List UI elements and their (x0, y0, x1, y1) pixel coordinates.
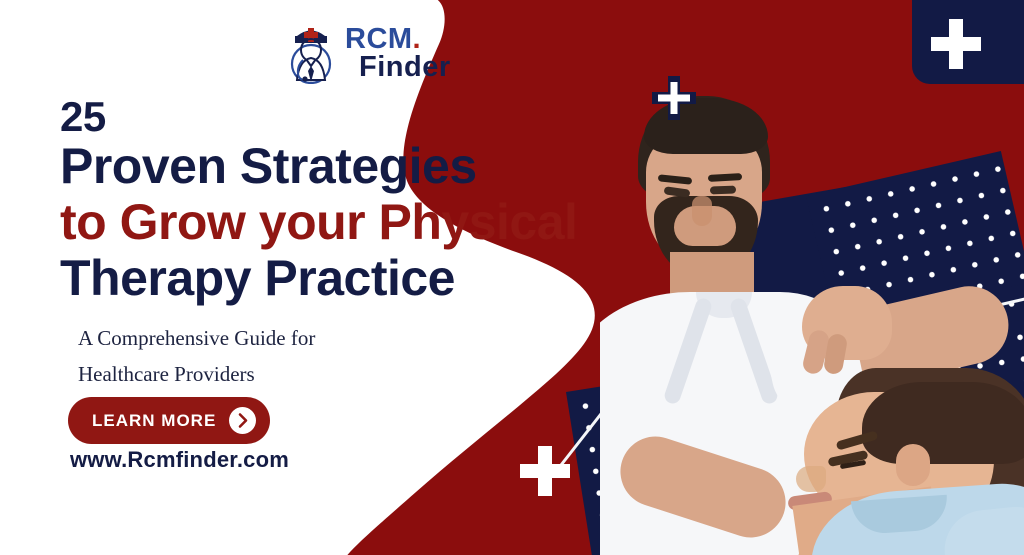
therapist-eye-right (710, 186, 736, 195)
patient-hair-top (862, 382, 1024, 464)
learn-more-button[interactable]: LEARN MORE (68, 397, 270, 444)
chevron-right-circle-icon (229, 407, 256, 434)
patient-nose (796, 466, 826, 492)
logo-text-primary: RCM (345, 23, 413, 55)
headline-line-1: Proven Strategies (60, 138, 630, 194)
headline: 25 Proven Strategies to Grow your Physic… (60, 96, 630, 306)
headline-count: 25 (60, 96, 630, 138)
headline-line-2: to Grow your Physical (60, 194, 630, 250)
logo-wordmark: RCM. Finder (345, 25, 451, 82)
subtitle-line-2: Healthcare Providers (78, 356, 498, 392)
doctor-avatar-icon (283, 22, 339, 84)
medical-cross-icon (518, 444, 572, 498)
subtitle-line-1: A Comprehensive Guide for (78, 320, 498, 356)
logo[interactable]: RCM. Finder (283, 22, 451, 84)
headline-line-3: Therapy Practice (60, 250, 630, 306)
website-url[interactable]: www.Rcmfinder.com (70, 447, 289, 473)
promo-banner: RCM. Finder 25 Proven Strategies to Grow… (0, 0, 1024, 555)
learn-more-label: LEARN MORE (92, 411, 216, 431)
logo-text-secondary: Finder (359, 53, 451, 81)
medical-cross-icon (928, 16, 984, 72)
logo-dot: . (413, 23, 422, 55)
patient-ear (896, 444, 930, 486)
subtitle: A Comprehensive Guide for Healthcare Pro… (78, 320, 498, 392)
